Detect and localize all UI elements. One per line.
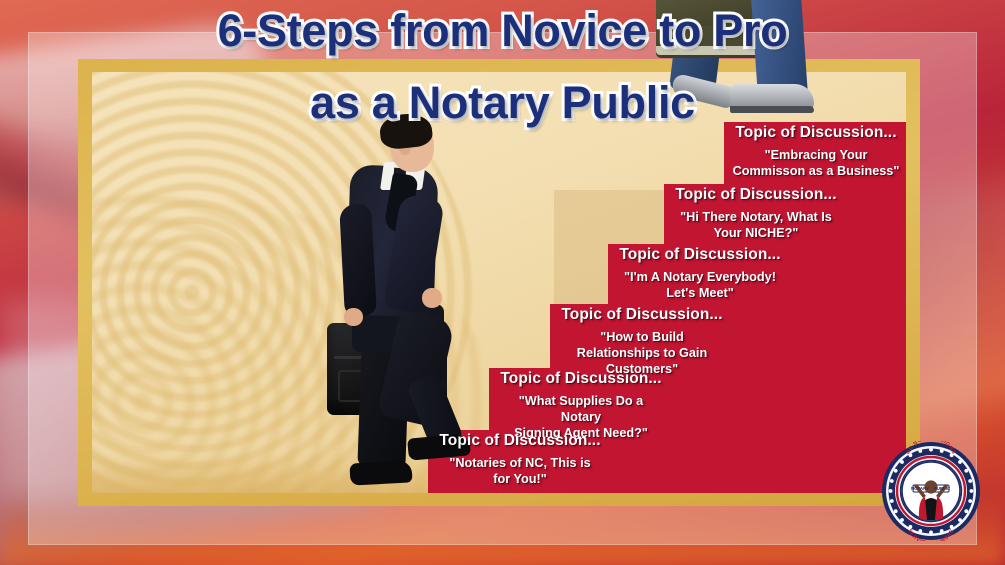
- rear-shoe: [349, 460, 412, 485]
- bag-bottom-edge: [656, 46, 764, 55]
- notary-seal-logo[interactable]: NC NOTARY SIGNS SERVICES & MORE NOTARY P…: [881, 441, 981, 541]
- topic-box-5[interactable]: Topic of Discussion... "Hi There Notary,…: [666, 186, 846, 241]
- front-shoe-sole: [730, 106, 814, 113]
- topic-3-line-1: "How to Build: [558, 329, 726, 345]
- topic-5-line-2: Your NICHE?": [672, 225, 840, 241]
- seal-sign-left: NOTARY: [911, 486, 929, 491]
- rear-arm: [339, 203, 377, 317]
- topic-6-line-2: Commisson as a Business": [732, 163, 900, 179]
- topic-1-heading: Topic of Discussion...: [436, 432, 604, 450]
- topic-5-heading: Topic of Discussion...: [672, 186, 840, 204]
- seal-sign-right: PUBLIC: [934, 486, 951, 491]
- slide-canvas: Topic of Discussion... "Embracing Your C…: [0, 0, 1005, 565]
- topic-2-heading: Topic of Discussion...: [497, 370, 665, 388]
- topic-1-line-2: for You!": [436, 471, 604, 487]
- topic-box-6[interactable]: Topic of Discussion... "Embracing Your C…: [726, 124, 906, 179]
- topic-5-line-1: "Hi There Notary, What Is: [672, 209, 840, 225]
- topic-2-line-1: "What Supplies Do a Notary: [497, 393, 665, 425]
- topic-3-heading: Topic of Discussion...: [558, 306, 726, 324]
- topic-1-line-1: "Notaries of NC, This is: [436, 455, 604, 471]
- front-hand: [422, 288, 442, 308]
- topic-4-line-1: "I'm A Notary Everybody!: [616, 269, 784, 285]
- bag-flap: [656, 26, 764, 46]
- rear-hand: [344, 308, 363, 326]
- topic-box-2[interactable]: Topic of Discussion... "What Supplies Do…: [491, 370, 671, 441]
- topic-box-3[interactable]: Topic of Discussion... "How to Build Rel…: [552, 306, 732, 377]
- walking-figure-top: [648, 0, 838, 124]
- seal-icon: NC NOTARY SIGNS SERVICES & MORE NOTARY P…: [881, 441, 981, 541]
- topic-6-line-1: "Embracing Your: [732, 147, 900, 163]
- topic-box-1[interactable]: Topic of Discussion... "Notaries of NC, …: [430, 432, 610, 487]
- topic-6-heading: Topic of Discussion...: [732, 124, 900, 142]
- topic-4-heading: Topic of Discussion...: [616, 246, 784, 264]
- topic-box-4[interactable]: Topic of Discussion... "I'm A Notary Eve…: [610, 246, 790, 301]
- topic-4-line-2: Let's Meet": [616, 285, 784, 301]
- topic-3-line-2: Relationships to Gain: [558, 345, 726, 361]
